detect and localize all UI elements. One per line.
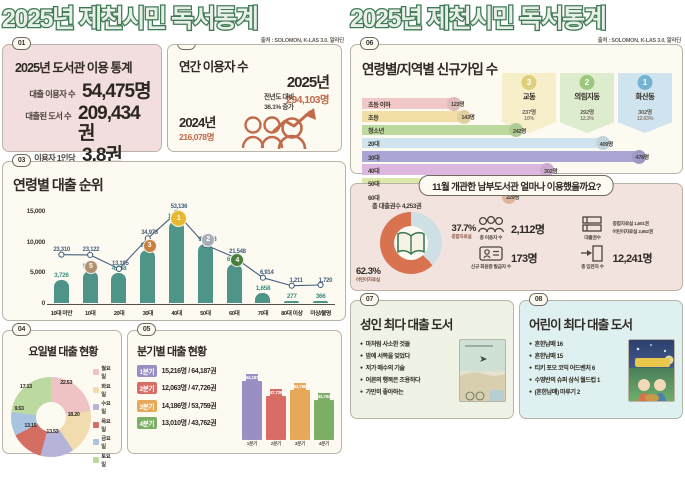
card-icon	[476, 245, 506, 262]
panel-04-weekday-loan: 04 요일별 대출 현황 22.5318.2013.5313.159.5317.…	[2, 330, 122, 454]
age-bar-label: 40대	[368, 166, 379, 175]
legend-swatch	[93, 439, 99, 445]
south-stat-entries: 총 입관자 수 12,241명	[577, 245, 673, 270]
people-group-icon	[241, 115, 307, 149]
line-value: 1,211	[289, 278, 302, 284]
bar-cell: 1,658	[249, 211, 278, 303]
year-2025-label: 2025년	[286, 71, 329, 92]
bottom-row-left: 04 요일별 대출 현황 22.5318.2013.5313.159.5317.…	[2, 330, 346, 454]
book-title: 흔한남매 16	[535, 339, 563, 351]
south-stat-visitors-caption: 총 이용자 수	[480, 234, 503, 241]
quarter-bar-label: 2분기	[271, 441, 281, 447]
age-bar-value: 143명	[461, 113, 474, 121]
book-list-item: ●밤에 서쪽을 잊었다	[360, 351, 455, 363]
medal-rank-2: 2	[201, 233, 215, 247]
book-list-item: ●가만히 좋아하는	[360, 387, 455, 399]
bullet-icon: ●	[360, 387, 363, 399]
headline-text-right: 2025년 제천시민 독서통계	[350, 7, 606, 32]
line-value: 34,973	[141, 230, 158, 236]
quarter-bar-chart: 64,1871분기47,7262분기53,7593분기43,7624분기	[242, 365, 334, 447]
quarter-tag: 3분기	[137, 400, 157, 412]
book-title: 가만히 좋아하는	[366, 387, 404, 399]
age-bar-track	[362, 125, 516, 136]
panel-04-title: 요일별 대출 현황	[11, 343, 115, 359]
quarter-bar-cell: 47,7262분기	[266, 365, 286, 447]
quarter-bar-cell: 43,7624분기	[314, 365, 334, 447]
age-bar-value: 123명	[451, 100, 464, 108]
book-title: 밤에 서쪽을 잊었다	[366, 351, 410, 363]
age-bar-value: 478명	[636, 153, 649, 161]
kids-book-list: ●흔한남매 16●흔한남매 15●티키 포오 코믹 어드벤처 6●수영반의 슈퍼…	[529, 339, 624, 402]
bullet-icon: ●	[360, 375, 363, 387]
south-stat-new-cards-caption: 신규 회원증 발급자 수	[471, 263, 511, 270]
books-icon	[579, 216, 605, 233]
book-title: 저가 매수의 기술	[366, 363, 405, 375]
south-total-label: 총 대출권수 4,253권	[372, 201, 421, 210]
door-icon-wrap: 총 입관자 수	[577, 245, 607, 270]
age-bar-label: 30대	[368, 153, 379, 162]
legend-label: 금요일	[101, 434, 115, 450]
bar-cell: 3,726	[47, 211, 76, 303]
x-tick: 30대	[133, 305, 162, 317]
bullet-icon: ●	[529, 363, 532, 375]
book-list-item: ●어른의 행복은 조용하다	[360, 375, 455, 387]
medal-rank-3: 3	[143, 239, 157, 253]
book-title: 수영반의 슈퍼 삼식 월드컵 1	[535, 375, 600, 387]
legend-swatch	[93, 404, 99, 410]
age-bar-row: 30대478명	[362, 150, 672, 163]
panel-08-kids-books: 08 어린이 최다 대출 도서 ●흔한남매 16●흔한남매 15●티키 포오 코…	[519, 300, 683, 419]
y-tick-10000: 10,000	[27, 239, 45, 246]
panel-08-body: ●흔한남매 16●흔한남매 15●티키 포오 코믹 어드벤처 6●수영반의 슈퍼…	[529, 339, 675, 402]
bar	[255, 293, 270, 303]
line-value: 13,195	[112, 261, 129, 267]
open-book-icon	[396, 230, 426, 256]
door-icon	[579, 245, 605, 262]
weekday-donut-wrap: 22.5318.2013.5313.159.5317.13 월요일화요일수요일목…	[11, 364, 115, 470]
age-bar-row: 20대409명	[362, 137, 672, 150]
x-tick: 20대	[105, 305, 134, 317]
bar-cell: 277	[277, 211, 306, 303]
age-bar-label: 60대	[368, 193, 379, 202]
right-column: 2025년 제천시민 독서통계 출처 : SOLOMON, K-LAS 3.0,…	[350, 2, 683, 475]
quarter-bar-value: 43,762	[318, 393, 331, 400]
panel-07-adult-books: 07 성인 최다 대출 도서 ●마처럼 사소한 것들●밤에 서쪽을 잊었다●저가…	[350, 300, 514, 419]
pie-slice-label-수요일: 13.53	[46, 429, 58, 435]
medal-rank-5: 5	[84, 260, 98, 274]
quarter-values: 13,010명 / 43,762권	[162, 418, 217, 428]
line-value: 6,914	[260, 270, 274, 276]
x-tick: 50대	[191, 305, 220, 317]
bar	[227, 264, 242, 303]
legend-item: 월요일	[93, 364, 115, 380]
stat-value-books: 209,434권	[78, 104, 151, 144]
legend-swatch	[93, 369, 99, 375]
south-pct-kids: 62.3% 어린이자료실	[356, 266, 380, 283]
year-2024-value: 216,078명	[179, 131, 215, 143]
quarter-bar-label: 3분기	[295, 441, 305, 447]
left-column: 2025년 제천시민 독서통계 출처 : SOLOMON, K-LAS 3.0,…	[2, 2, 346, 475]
legend-swatch	[93, 457, 99, 463]
south-pct-general-label: 종합자료실	[452, 234, 476, 240]
panel-02-annual-users: 02 연간 이용자 수 2025년 294,103명 2024년 216,078…	[167, 44, 342, 152]
bar-value: 277	[287, 293, 297, 300]
pie-slice-label-월요일: 22.53	[60, 380, 72, 386]
x-tick: 70대	[249, 305, 278, 317]
panel-07-title: 성인 최다 대출 도서	[360, 314, 506, 333]
quarter-tag: 1분기	[137, 365, 157, 377]
quarter-bar-cell: 53,7593분기	[290, 365, 310, 447]
panel-05-title: 분기별 대출 현황	[137, 343, 334, 359]
age-bar-value: 409명	[600, 140, 613, 148]
x-tick: 10대 미만	[47, 305, 76, 317]
book-rankings-row: 07 성인 최다 대출 도서 ●마처럼 사소한 것들●밤에 서쪽을 잊었다●저가…	[350, 300, 683, 419]
legend-item: 금요일	[93, 434, 115, 450]
quarter-values: 15,216명 / 64,187권	[162, 366, 217, 376]
quarter-bar-value: 64,187	[246, 374, 259, 381]
age-bar-row: 초등 이하123명	[362, 97, 672, 110]
line-value: 23,310	[53, 247, 70, 253]
south-stat-loans-caption: 대출권수	[584, 234, 600, 241]
quarter-values: 12,063명 / 47,726권	[162, 383, 217, 393]
south-donut-wrap: 총 대출권수 4,253권 37.7% 종합자료실 62.3% 어린이자료실	[360, 201, 472, 285]
y-tick-0: 0	[42, 300, 45, 307]
x-tick: 40대	[162, 305, 191, 317]
kids-book-cover	[628, 339, 675, 402]
panel-03-title: 연령별 대출 순위	[13, 175, 337, 195]
y-tick-5000: 5,000	[30, 269, 45, 276]
legend-label: 월요일	[101, 364, 115, 380]
book-title: 티키 포오 코믹 어드벤처 6	[535, 363, 595, 375]
bar	[111, 273, 126, 303]
age-bar-value: 242명	[513, 127, 526, 135]
growth-line-1: 전년도 대비	[264, 93, 294, 103]
pie-slice-label-토요일: 17.13	[20, 384, 32, 390]
south-donut-chart	[380, 212, 442, 274]
book-title: 마처럼 사소한 것들	[366, 339, 410, 351]
panel-05-badge: 05	[137, 323, 156, 336]
pie-slice-label-화요일: 18.20	[68, 412, 80, 418]
bar-cell: 366	[306, 211, 335, 303]
region-rank-badge: 1	[638, 75, 653, 90]
bar-cell: 9,666	[191, 211, 220, 303]
south-stat-visitors-value: 2,112명	[511, 221, 544, 237]
x-tick: 80대 이상	[277, 305, 306, 317]
headline-left: 2025년 제천시민 독서통계 출처 : SOLOMON, K-LAS 3.0,…	[2, 2, 346, 36]
quarter-values: 14,186명 / 53,759권	[162, 401, 217, 411]
south-pct-general: 37.7% 종합자료실	[452, 223, 476, 240]
quarter-bar-label: 4분기	[319, 441, 329, 447]
south-stat-new-cards-value: 173명	[511, 250, 537, 266]
legend-item: 토요일	[93, 452, 115, 468]
bar-value: 1,658	[256, 285, 271, 292]
stat-label-borrowers: 대출 이용자 수	[15, 88, 75, 100]
south-stats-grid: 총 이용자 수 2,112명 대출권수	[472, 216, 673, 270]
age-bar-track	[362, 164, 547, 175]
south-stat-new-cards: 신규 회원증 발급자 수 173명	[476, 245, 572, 270]
bullet-icon: ●	[529, 351, 532, 363]
source-note-right: 출처 : SOLOMON, K-LAS 3.0, 알라딘	[598, 36, 681, 44]
chart-y-axis: 05,00010,00015,000	[13, 197, 45, 317]
south-loans-kids: 어린이자료실 2,652권	[612, 229, 652, 237]
panel-01-usage-stats: 01 2025년 도서관 이용 통계 대출 이용자 수 54,475명 대출된 …	[2, 44, 162, 152]
chart-x-axis: 10대 미만10대20대30대40대50대60대70대80대 이상미상/불명	[47, 304, 335, 317]
age-bar-label: 청소년	[368, 126, 384, 135]
book-title: 어른의 행복은 조용하다	[366, 375, 421, 387]
bar-cell: 8,682	[133, 211, 162, 303]
book-list-item: ●(흔한남매) 마루기 2	[529, 387, 624, 399]
south-pct-kids-value: 62.3%	[356, 266, 380, 277]
panel-06-badge: 06	[360, 37, 379, 50]
headline-text: 2025년 제천시민 독서통계	[2, 7, 258, 32]
quarter-tag: 4분기	[137, 417, 157, 429]
quarter-tag: 2분기	[137, 382, 157, 394]
book-list-item: ●마처럼 사소한 것들	[360, 339, 455, 351]
panel-07-body: ●마처럼 사소한 것들●밤에 서쪽을 잊었다●저가 매수의 기술●어른의 행복은…	[360, 339, 506, 402]
panel-08-title: 어린이 최다 대출 도서	[529, 314, 675, 333]
book-title: (흔한남매) 마루기 2	[535, 387, 580, 399]
bar-cell: 5,229	[76, 211, 105, 303]
legend-item: 화요일	[93, 382, 115, 398]
panel-01-badge: 01	[12, 37, 31, 50]
quarter-bar-cell: 64,1871분기	[242, 365, 262, 447]
region-rank-badge: 3	[522, 75, 537, 90]
south-library-body: 총 대출권수 4,253권 37.7% 종합자료실 62.3% 어린이자료실	[360, 198, 673, 284]
bullet-icon: ●	[360, 339, 363, 351]
bullet-icon: ●	[360, 363, 363, 375]
books-icon-wrap: 대출권수	[577, 216, 607, 241]
quarter-bar	[314, 400, 334, 440]
bar-value: 3,726	[54, 272, 69, 279]
infographic-poster: 2025년 제천시민 독서통계 출처 : SOLOMON, K-LAS 3.0,…	[0, 0, 685, 477]
quarter-bar-value: 53,759	[294, 383, 307, 390]
stat-row-borrowers: 대출 이용자 수 54,475명	[15, 82, 151, 102]
bar	[83, 271, 98, 303]
south-library-title: 11월 개관한 남부도서관 얼마나 이용했을까요?	[419, 175, 614, 196]
people-icon-wrap: 총 이용자 수	[476, 216, 506, 241]
legend-item: 목요일	[93, 417, 115, 433]
stat-label-books: 대출된 도서 수	[15, 110, 71, 122]
age-bar-label: 20대	[368, 139, 379, 148]
line-value: 1,720	[319, 278, 333, 284]
south-stat-visitors: 총 이용자 수 2,112명	[476, 216, 572, 241]
panel-08-badge: 08	[529, 293, 548, 306]
chart-plot-area: 3,7265,2294,9688,68213,3809,6666,3231,65…	[47, 197, 335, 317]
south-stat-entries-caption: 총 입관자 수	[581, 263, 604, 270]
panel-02-badge: 02	[177, 44, 196, 50]
legend-label: 수요일	[101, 399, 115, 415]
stat-row-books: 대출된 도서 수 209,434권	[15, 104, 151, 144]
stat-value-borrowers: 54,475명	[82, 82, 151, 102]
age-bar-label: 50대	[368, 179, 379, 188]
people-icon	[476, 216, 506, 233]
adult-book-cover	[459, 339, 506, 402]
bullet-icon: ●	[529, 375, 532, 387]
age-bar-row: 초등143명	[362, 110, 672, 123]
bar-cell: 4,968	[105, 211, 134, 303]
bullet-icon: ●	[360, 351, 363, 363]
bar	[169, 221, 184, 303]
age-bar-track	[362, 151, 639, 162]
x-tick: 60대	[220, 305, 249, 317]
kids-cover-art	[629, 340, 675, 402]
legend-label: 토요일	[101, 452, 115, 468]
south-pct-kids-label: 어린이자료실	[356, 277, 380, 283]
south-stat-loans: 대출권수 종합자료실 1,601권 어린이자료실 2,652권	[577, 216, 673, 241]
south-pct-general-value: 37.7%	[452, 223, 476, 234]
weekday-legend: 월요일화요일수요일목요일금요일토요일	[93, 364, 115, 470]
legend-swatch	[93, 422, 99, 428]
age-bar-track	[362, 138, 603, 149]
y-tick-15000: 15,000	[27, 208, 45, 215]
panel-06-new-members: 06 연령별/지역별 신규가입 수 3교동237명10%2의림지동292명12.…	[350, 44, 683, 174]
age-bar-value: 302명	[544, 167, 557, 175]
legend-item: 수요일	[93, 399, 115, 415]
adult-book-list: ●마처럼 사소한 것들●밤에 서쪽을 잊었다●저가 매수의 기술●어른의 행복은…	[360, 339, 455, 402]
year-2024-block: 2024년 216,078명	[179, 112, 215, 143]
bar	[54, 280, 69, 303]
book-list-item: ●티키 포오 코믹 어드벤처 6	[529, 363, 624, 375]
age-bar-label: 초등	[368, 113, 379, 122]
headline-right: 2025년 제천시민 독서통계 출처 : SOLOMON, K-LAS 3.0,…	[350, 2, 683, 36]
card-icon-wrap: 신규 회원증 발급자 수	[476, 245, 506, 270]
south-stat-loans-lines: 종합자료실 1,601권 어린이자료실 2,652권	[612, 221, 652, 236]
age-bar-row: 청소년242명	[362, 124, 672, 137]
quarter-bar-value: 47,726	[270, 389, 283, 396]
book-list-item: ●흔한남매 16	[529, 339, 624, 351]
age-bar-label: 초등 이하	[368, 100, 391, 109]
legend-label: 화요일	[101, 382, 115, 398]
book-list-item: ●저가 매수의 기술	[360, 363, 455, 375]
bar	[284, 301, 299, 303]
book-list-item: ●흔한남매 15	[529, 351, 624, 363]
x-tick: 미상/불명	[306, 305, 335, 317]
panel-03-badge: 03	[12, 154, 31, 167]
bullet-icon: ●	[529, 339, 532, 351]
region-rank-badge: 2	[580, 75, 595, 90]
pie-slice-label-금요일: 9.53	[14, 406, 23, 412]
x-tick: 10대	[76, 305, 105, 317]
line-value: 23,122	[83, 247, 100, 253]
panel-03-age-loan-rank: 03 연령별 대출 순위 05,00010,00015,000 3,7265,2…	[2, 161, 346, 321]
panel-05-quarter-loan: 05 분기별 대출 현황 1분기15,216명 / 64,187권2분기12,0…	[127, 330, 342, 454]
bar	[198, 244, 213, 303]
quarter-bar	[242, 381, 262, 440]
south-loans-general: 종합자료실 1,601권	[612, 221, 652, 229]
bar	[313, 301, 328, 303]
quarter-bar	[266, 396, 286, 440]
book-title: 흔한남매 15	[535, 351, 563, 363]
bullet-icon: ●	[529, 387, 532, 399]
legend-swatch	[93, 387, 99, 393]
source-note-left: 출처 : SOLOMON, K-LAS 3.0, 알라딘	[261, 36, 344, 44]
legend-label: 목요일	[101, 417, 115, 433]
book-list-item: ●수영반의 슈퍼 삼식 월드컵 1	[529, 375, 624, 387]
top-row-left: 01 2025년 도서관 이용 통계 대출 이용자 수 54,475명 대출된 …	[2, 44, 346, 152]
quarter-bar-label: 1분기	[247, 441, 257, 447]
age-loan-chart: 05,00010,00015,000 3,7265,2294,9688,6821…	[13, 197, 337, 317]
chart-bars: 3,7265,2294,9688,68213,3809,6666,3231,65…	[47, 211, 335, 303]
bar	[140, 250, 155, 303]
bar-value: 366	[316, 293, 326, 300]
pie-slice-label-목요일: 13.15	[24, 423, 36, 429]
panel-07-badge: 07	[360, 293, 379, 306]
quarter-bar	[290, 390, 310, 439]
adult-cover-art	[460, 340, 506, 402]
south-stat-entries-value: 12,241명	[612, 250, 652, 266]
year-2024-label: 2024년	[179, 112, 215, 131]
panel-01-title: 2025년 도서관 이용 통계	[15, 57, 151, 76]
panel-04-badge: 04	[12, 323, 31, 336]
